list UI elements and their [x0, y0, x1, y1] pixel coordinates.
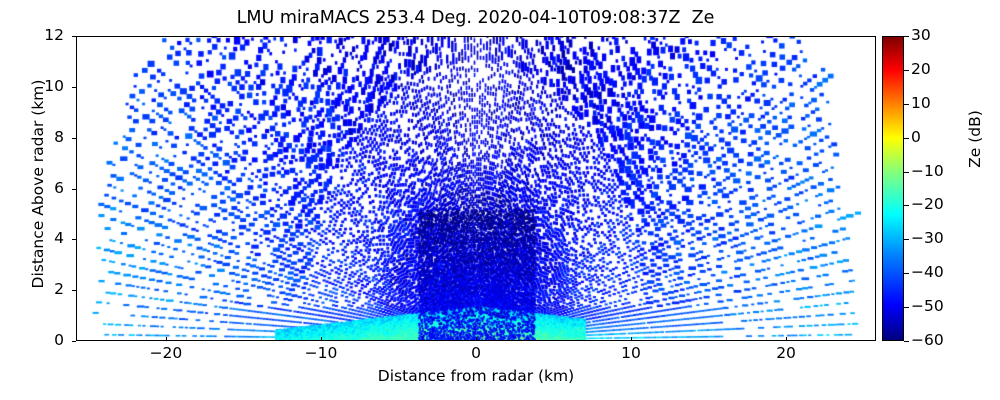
- x-tick-label: 10: [591, 344, 671, 362]
- x-tick-label: 0: [436, 344, 516, 362]
- x-tick: [476, 337, 477, 341]
- figure-canvas: LMU miraMACS 253.4 Deg. 2020-04-10T09:08…: [0, 0, 1000, 400]
- x-tick: [631, 337, 632, 341]
- y-tick-label: 12: [0, 26, 64, 44]
- y-tick: [72, 138, 76, 139]
- plot-title: LMU miraMACS 253.4 Deg. 2020-04-10T09:08…: [75, 8, 876, 28]
- colorbar-tick-label: −10: [911, 162, 944, 180]
- x-tick-label: 20: [746, 344, 826, 362]
- colorbar-tick: [904, 104, 909, 105]
- colorbar-tick: [904, 307, 909, 308]
- x-tick: [786, 337, 787, 341]
- y-tick: [72, 87, 76, 88]
- radar-scatter-plot: [77, 37, 875, 340]
- colorbar-tick-label: −20: [911, 195, 944, 213]
- y-tick: [72, 36, 76, 37]
- colorbar-title: Ze (dB): [966, 69, 984, 209]
- y-tick-label: 0: [0, 331, 64, 349]
- x-tick: [166, 337, 167, 341]
- colorbar-tick: [904, 138, 909, 139]
- colorbar-tick-label: 10: [911, 94, 931, 112]
- colorbar-tick: [904, 341, 909, 342]
- y-tick: [72, 341, 76, 342]
- y-tick: [72, 290, 76, 291]
- y-tick: [72, 189, 76, 190]
- colorbar-tick: [904, 205, 909, 206]
- y-axis-title: Distance Above radar (km): [29, 54, 47, 314]
- colorbar-tick-label: −30: [911, 229, 944, 247]
- colorbar-tick: [904, 172, 909, 173]
- colorbar-tick-label: 30: [911, 26, 931, 44]
- x-tick-label: −20: [126, 344, 206, 362]
- plot-axes: [76, 36, 876, 341]
- colorbar-tick-label: 20: [911, 60, 931, 78]
- x-tick-label: −10: [281, 344, 361, 362]
- y-tick: [72, 239, 76, 240]
- colorbar-tick: [904, 239, 909, 240]
- colorbar-tick-label: 0: [911, 128, 921, 146]
- colorbar-tick-label: −60: [911, 331, 944, 349]
- x-tick: [321, 337, 322, 341]
- colorbar-tick: [904, 70, 909, 71]
- x-axis-title: Distance from radar (km): [76, 367, 876, 385]
- colorbar-tick: [904, 273, 909, 274]
- colorbar-gradient: [882, 36, 904, 341]
- colorbar-tick-label: −50: [911, 297, 944, 315]
- colorbar-tick: [904, 36, 909, 37]
- colorbar-tick-label: −40: [911, 263, 944, 281]
